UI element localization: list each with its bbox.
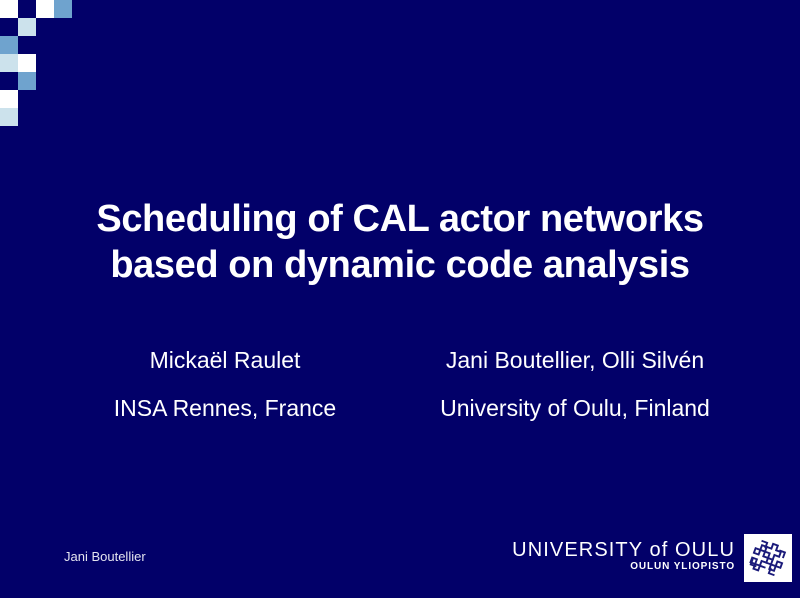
author-name-left: Mickaël Raulet (60, 336, 390, 384)
deco-cell-r1-c0 (0, 18, 18, 36)
checkerboard-decoration (0, 0, 72, 144)
logo-wordmark: UNIVERSITY of OULU OULUN YLIOPISTO (512, 534, 744, 573)
deco-cell-r1-c2 (36, 18, 54, 36)
deco-cell-r5-c1 (18, 90, 36, 108)
footer-presenter-name: Jani Boutellier (64, 549, 146, 565)
deco-cell-r1-c1 (18, 18, 36, 36)
deco-cell-r6-c3 (54, 108, 72, 126)
deco-cell-r0-c1 (18, 0, 36, 18)
deco-cell-r3-c0 (0, 54, 18, 72)
author-block: Mickaël Raulet INSA Rennes, France Jani … (60, 336, 760, 432)
deco-cell-r6-c2 (36, 108, 54, 126)
logo-line-oulun-yliopisto: OULUN YLIOPISTO (630, 561, 735, 573)
author-column-left: Mickaël Raulet INSA Rennes, France (60, 336, 390, 432)
logo-line-university: UNIVERSITY of OULU (512, 539, 735, 561)
deco-cell-r0-c3 (54, 0, 72, 18)
author-column-right: Jani Boutellier, Olli Silvén University … (390, 336, 760, 432)
deco-cell-r2-c2 (36, 36, 54, 54)
deco-cell-r2-c0 (0, 36, 18, 54)
deco-cell-r2-c3 (54, 36, 72, 54)
title-slide: Scheduling of CAL actor networks based o… (0, 0, 800, 598)
deco-cell-r0-c2 (36, 0, 54, 18)
deco-cell-r5-c2 (36, 90, 54, 108)
title-line-1: Scheduling of CAL actor networks (0, 196, 800, 242)
deco-cell-r3-c2 (36, 54, 54, 72)
deco-cell-r7-c1 (18, 126, 36, 144)
deco-cell-r1-c3 (54, 18, 72, 36)
author-affiliation-left: INSA Rennes, France (60, 384, 390, 432)
deco-cell-r6-c0 (0, 108, 18, 126)
deco-cell-r4-c1 (18, 72, 36, 90)
author-affiliation-right: University of Oulu, Finland (390, 384, 760, 432)
deco-cell-r7-c2 (36, 126, 54, 144)
deco-cell-r0-c0 (0, 0, 18, 18)
oulu-labyrinth-emblem-icon (744, 534, 792, 582)
deco-cell-r4-c2 (36, 72, 54, 90)
deco-cell-r7-c3 (54, 126, 72, 144)
deco-cell-r5-c3 (54, 90, 72, 108)
deco-cell-r6-c1 (18, 108, 36, 126)
deco-cell-r2-c1 (18, 36, 36, 54)
deco-cell-r3-c1 (18, 54, 36, 72)
author-name-right: Jani Boutellier, Olli Silvén (390, 336, 760, 384)
deco-cell-r4-c0 (0, 72, 18, 90)
deco-cell-r4-c3 (54, 72, 72, 90)
deco-cell-r3-c3 (54, 54, 72, 72)
page-title: Scheduling of CAL actor networks based o… (0, 196, 800, 288)
university-logo: UNIVERSITY of OULU OULUN YLIOPISTO (512, 534, 792, 584)
title-line-2: based on dynamic code analysis (0, 242, 800, 288)
deco-cell-r5-c0 (0, 90, 18, 108)
deco-cell-r7-c0 (0, 126, 18, 144)
